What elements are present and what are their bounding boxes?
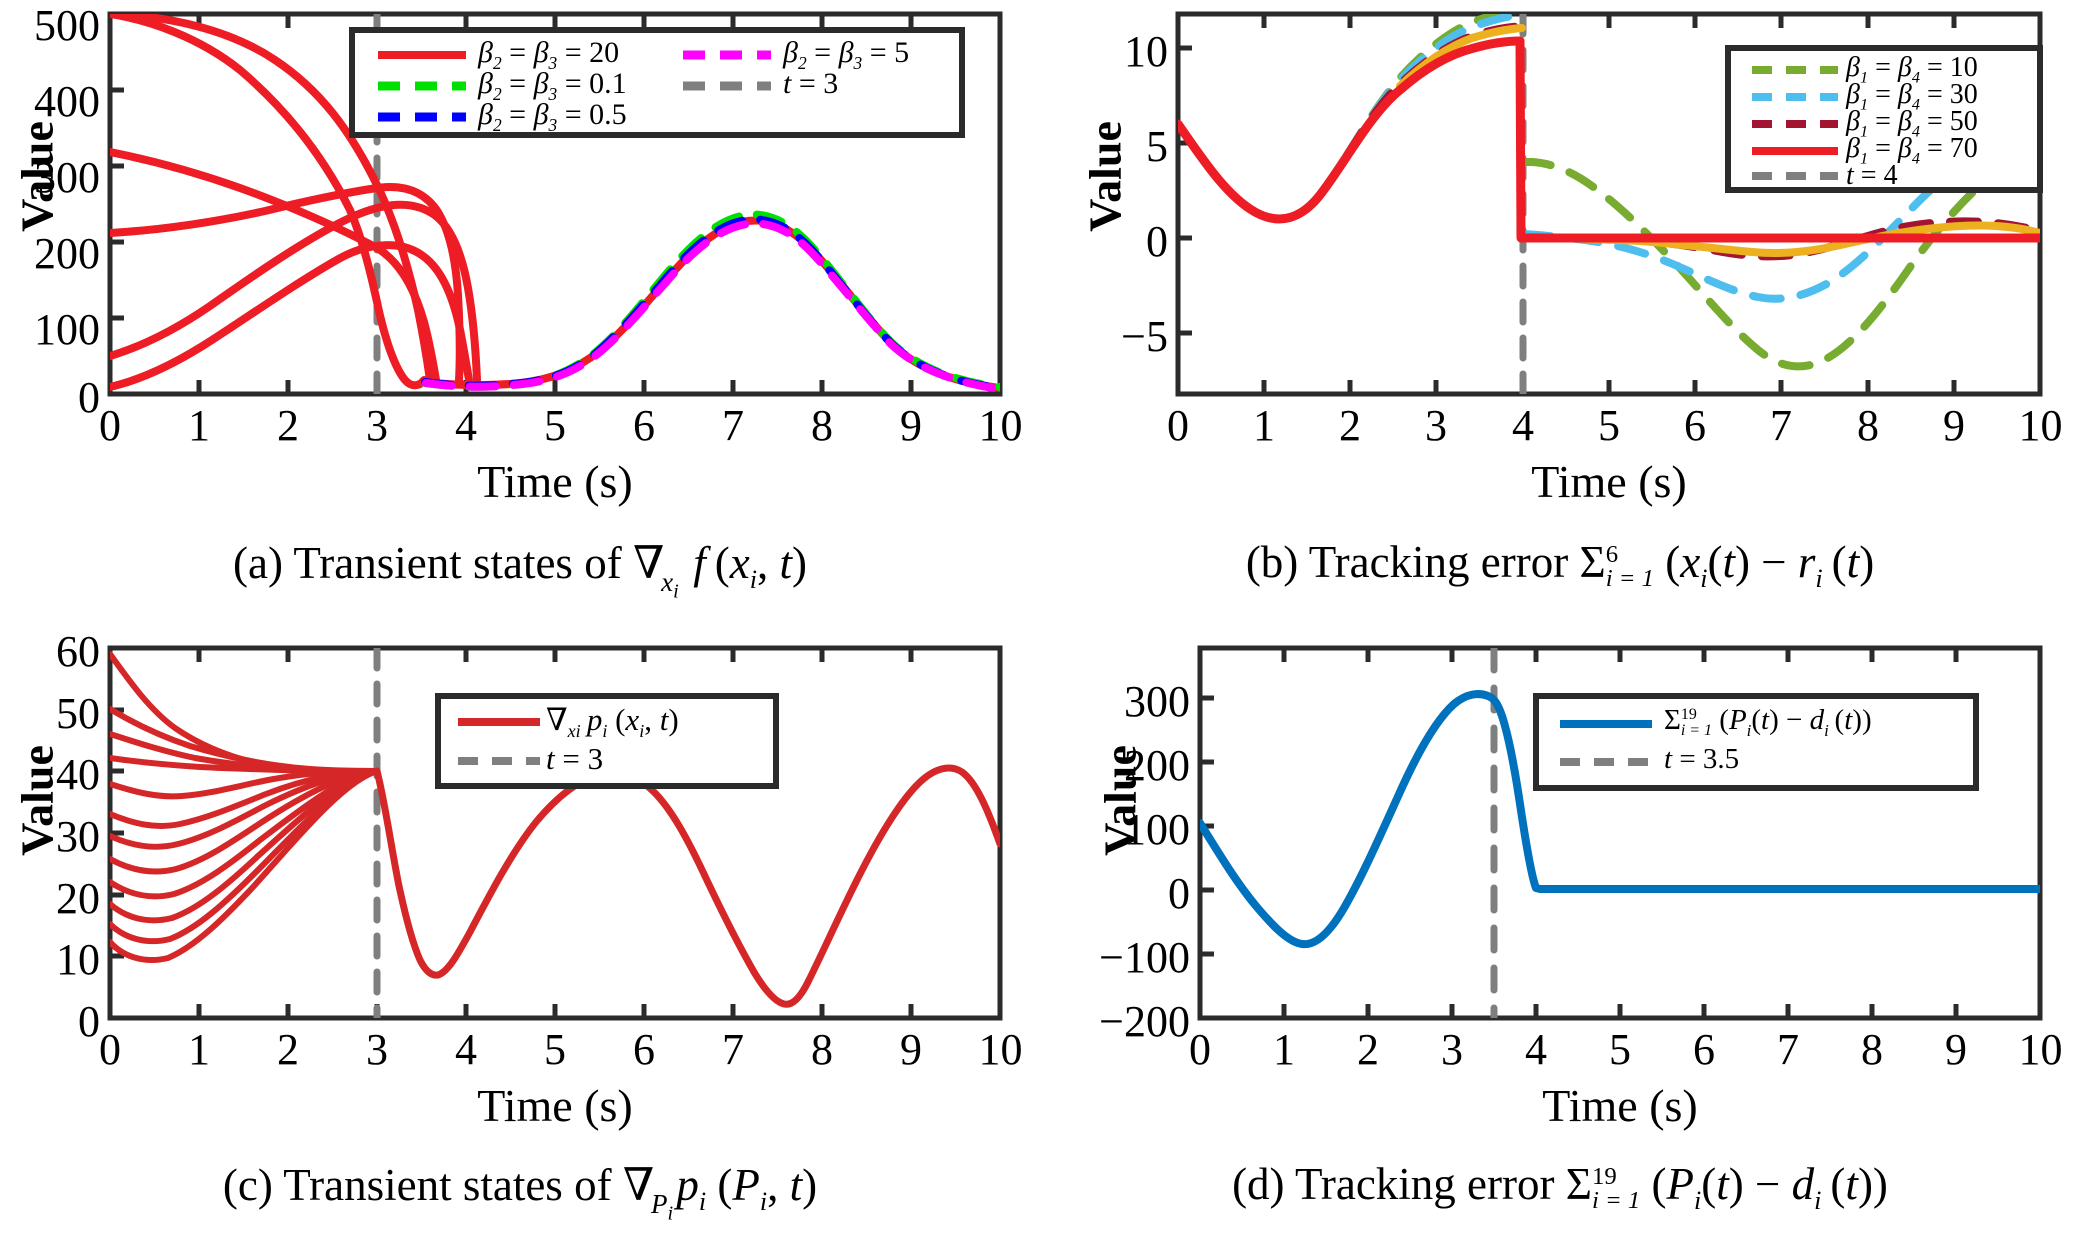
xtick-c-0: 0 xyxy=(80,1024,140,1075)
ylabel-a: Value xyxy=(11,67,64,287)
panel-c: ∇xi pi (xi, t) t = 3 60 50 40 30 20 10 0… xyxy=(0,624,1040,1248)
legend-a-label-5: t = 3 xyxy=(783,67,838,101)
xtick-b-6: 6 xyxy=(1665,400,1725,451)
caption-b-text: (b) Tracking error xyxy=(1246,537,1568,587)
xlabel-d: Time (s) xyxy=(1200,1079,2040,1132)
legend-c-label-1: ∇xi pi (xi, t) xyxy=(546,702,679,742)
panel-d: Σ19i = 1 (Pi(t) − di (t)) t = 3.5 300 20… xyxy=(1040,624,2079,1248)
ylabel-b: Value xyxy=(1079,67,1132,287)
xtick-a-10: 10 xyxy=(958,400,1043,451)
xtick-a-7: 7 xyxy=(703,400,763,451)
ylabel-c: Value xyxy=(11,691,64,911)
caption-a-text: (a) Transient states of xyxy=(233,538,622,588)
xtick-a-3: 3 xyxy=(347,400,407,451)
xtick-a-4: 4 xyxy=(436,400,496,451)
xtick-d-8: 8 xyxy=(1842,1024,1902,1075)
panel-a: β2 = β3 = 20 β2 = β3 = 0.1 β2 = β3 = 0.5… xyxy=(0,0,1040,624)
xlabel-a: Time (s) xyxy=(110,455,1000,508)
ytick-d-neg100: −100 xyxy=(1040,932,1190,983)
xtick-c-3: 3 xyxy=(347,1024,407,1075)
xtick-a-5: 5 xyxy=(525,400,585,451)
ylabel-d: Value xyxy=(1094,691,1147,911)
xtick-d-6: 6 xyxy=(1674,1024,1734,1075)
xtick-b-0: 0 xyxy=(1148,400,1208,451)
caption-d-text: (d) Tracking error xyxy=(1232,1159,1554,1209)
nabla-icon-legend-c: ∇ xyxy=(546,702,568,737)
xlabel-c: Time (s) xyxy=(110,1079,1000,1132)
xtick-d-7: 7 xyxy=(1758,1024,1818,1075)
xtick-c-10: 10 xyxy=(958,1024,1043,1075)
xtick-a-8: 8 xyxy=(792,400,852,451)
xtick-d-4: 4 xyxy=(1506,1024,1566,1075)
legend-d-label-2: t = 3.5 xyxy=(1664,743,1739,776)
xtick-b-3: 3 xyxy=(1406,400,1466,451)
xtick-b-5: 5 xyxy=(1579,400,1639,451)
xtick-c-7: 7 xyxy=(703,1024,763,1075)
xtick-a-0: 0 xyxy=(80,400,140,451)
xtick-c-4: 4 xyxy=(436,1024,496,1075)
ytick-a-100: 100 xyxy=(0,304,100,355)
xtick-a-1: 1 xyxy=(169,400,229,451)
xtick-d-5: 5 xyxy=(1590,1024,1650,1075)
legend-b-label-5: t = 4 xyxy=(1846,160,1898,192)
xtick-a-9: 9 xyxy=(881,400,941,451)
legend-d-label-1: Σ19i = 1 (Pi(t) − di (t)) xyxy=(1664,704,1872,741)
xtick-d-1: 1 xyxy=(1254,1024,1314,1075)
xtick-c-6: 6 xyxy=(614,1024,674,1075)
xtick-b-1: 1 xyxy=(1234,400,1294,451)
xtick-b-2: 2 xyxy=(1320,400,1380,451)
nabla-icon-c: ∇ xyxy=(623,1160,654,1210)
legend-c-label-2: t = 3 xyxy=(546,741,603,777)
xtick-d-0: 0 xyxy=(1170,1024,1230,1075)
ytick-a-500: 500 xyxy=(0,0,100,51)
xtick-b-10: 10 xyxy=(1998,400,2079,451)
ytick-b-neg5: −5 xyxy=(1050,311,1168,362)
xtick-c-8: 8 xyxy=(792,1024,852,1075)
xtick-a-6: 6 xyxy=(614,400,674,451)
xtick-d-10: 10 xyxy=(1998,1024,2079,1075)
xtick-b-8: 8 xyxy=(1838,400,1898,451)
ytick-c-60: 60 xyxy=(0,626,100,677)
caption-panel-c: (c) Transient states of ∇Pipi (Pi, t) xyxy=(0,1158,1040,1217)
xtick-c-2: 2 xyxy=(258,1024,318,1075)
caption-c-text: (c) Transient states of xyxy=(223,1160,612,1210)
caption-panel-b: (b) Tracking error Σ6i = 1 (xi(t) − ri (… xyxy=(1040,536,2079,594)
xtick-d-2: 2 xyxy=(1338,1024,1398,1075)
legend-a-label-3: β2 = β3 = 0.5 xyxy=(478,98,627,136)
xtick-d-3: 3 xyxy=(1422,1024,1482,1075)
xtick-b-4: 4 xyxy=(1493,400,1553,451)
panel-b: β1 = β4 = 10 β1 = β4 = 30 β1 = β4 = 50 β… xyxy=(1040,0,2079,624)
figure-four-panel-plots: β2 = β3 = 20 β2 = β3 = 0.1 β2 = β3 = 0.5… xyxy=(0,0,2079,1249)
caption-panel-d: (d) Tracking error Σ19i = 1 (Pi(t) − di … xyxy=(1040,1158,2079,1216)
ytick-c-10: 10 xyxy=(0,934,100,985)
xtick-d-9: 9 xyxy=(1926,1024,1986,1075)
nabla-icon: ∇ xyxy=(633,538,664,588)
caption-panel-a: (a) Transient states of ∇xi f (xi, t) xyxy=(0,536,1040,595)
xtick-b-9: 9 xyxy=(1924,400,1984,451)
xtick-b-7: 7 xyxy=(1751,400,1811,451)
xtick-c-9: 9 xyxy=(881,1024,941,1075)
xtick-a-2: 2 xyxy=(258,400,318,451)
ytick-d-neg200: −200 xyxy=(1040,996,1190,1047)
xtick-c-1: 1 xyxy=(169,1024,229,1075)
xtick-c-5: 5 xyxy=(525,1024,585,1075)
xlabel-b: Time (s) xyxy=(1178,455,2040,508)
